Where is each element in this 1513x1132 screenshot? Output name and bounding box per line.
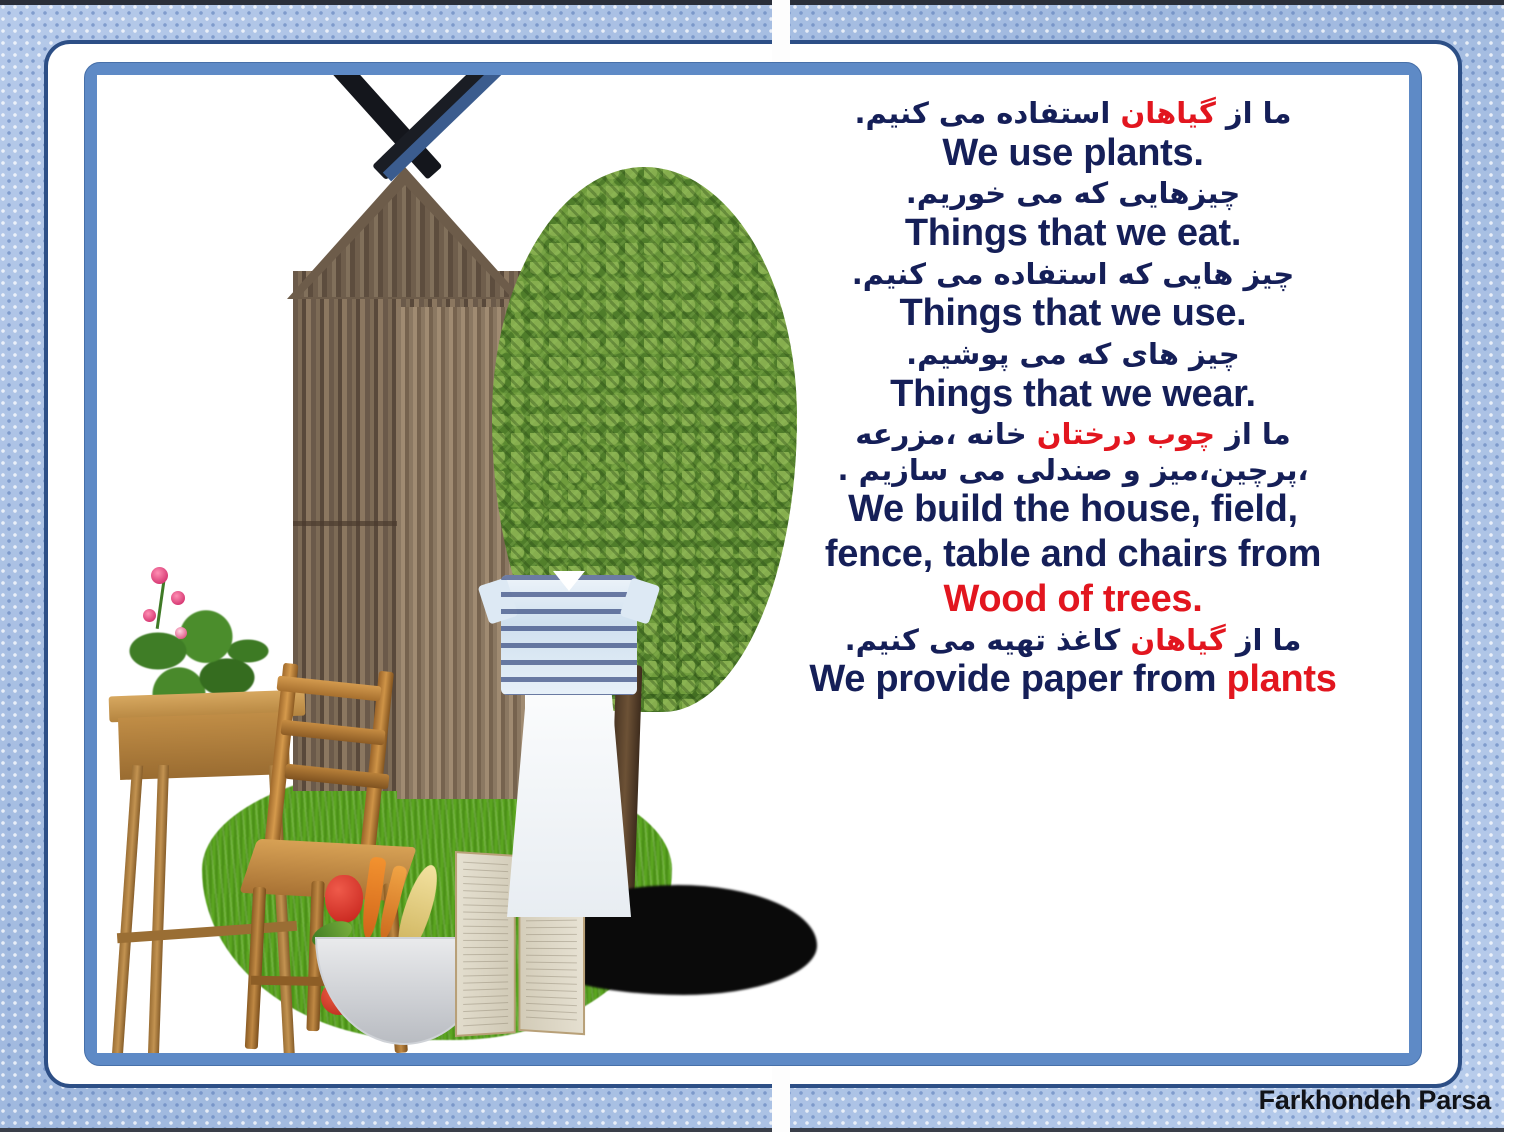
vegetable-tomato <box>325 875 363 923</box>
author-credit: Farkhondeh Parsa <box>1259 1085 1491 1116</box>
text-line-line-5-en-c: Wood of trees. <box>737 579 1409 624</box>
text-line-line-5-fa-a: ما از چوب درختان خانه ،مزرعه <box>737 418 1409 454</box>
text-segment-line-1-fa-1: گیاهان <box>1120 96 1215 130</box>
top-edge-rule <box>0 0 1505 5</box>
text-segment-line-5-fa-a-1: چوب درختان <box>1037 417 1215 451</box>
text-segment-line-1-en-0: We use plants. <box>942 132 1203 174</box>
text-segment-line-1-fa-0: ما از <box>1216 96 1292 130</box>
flower-bloom <box>171 591 185 605</box>
bilingual-text-block: ما از گیاهان استفاده می کنیم.We use plan… <box>737 97 1409 704</box>
text-segment-line-5-fa-b-0: ،پرچین،میز و صندلی می سازیم . <box>837 453 1308 487</box>
text-line-line-4-fa: چیز های که می پوشیم. <box>737 338 1409 374</box>
text-line-line-1-en: We use plants. <box>737 133 1409 178</box>
open-book-left-page <box>455 851 516 1037</box>
text-line-line-5-en-a: We build the house, field, <box>737 489 1409 534</box>
text-segment-line-4-fa-0: چیز های که می پوشیم. <box>906 337 1240 371</box>
table-apron <box>118 712 290 780</box>
text-line-line-1-fa: ما از گیاهان استفاده می کنیم. <box>737 97 1409 133</box>
book-text-lines <box>463 862 508 1027</box>
table-leg <box>148 765 169 1053</box>
text-line-line-5-fa-b: ،پرچین،میز و صندلی می سازیم . <box>737 454 1409 490</box>
text-segment-line-3-en-0: Things that we use. <box>900 292 1247 334</box>
text-line-line-2-fa: چیزهایی که می خوریم. <box>737 177 1409 213</box>
text-line-line-5-en-b: fence, table and chairs from <box>737 534 1409 579</box>
text-line-line-3-en: Things that we use. <box>737 293 1409 338</box>
plant-collage-illustration <box>97 75 797 1053</box>
text-segment-line-5-fa-a-2: خانه ،مزرعه <box>855 417 1037 451</box>
text-segment-line-5-en-b-0: fence, table and chairs from <box>825 533 1321 575</box>
text-segment-line-6-fa-2: کاغذ تهیه می کنیم. <box>845 623 1131 657</box>
text-segment-line-6-en-0: We provide paper from <box>809 658 1226 700</box>
shirt-stripes <box>501 575 637 695</box>
white-dress <box>507 687 631 917</box>
slide-root: ما از گیاهان استفاده می کنیم.We use plan… <box>0 0 1513 1132</box>
text-line-line-6-fa: ما از گیاهان کاغذ تهیه می کنیم. <box>737 624 1409 660</box>
text-segment-line-1-fa-2: استفاده می کنیم. <box>855 96 1121 130</box>
text-segment-line-6-fa-1: گیاهان <box>1130 623 1225 657</box>
text-segment-line-3-fa-0: چیز هایی که استفاده می کنیم. <box>852 257 1295 291</box>
text-segment-line-5-fa-a-0: ما از <box>1215 417 1291 451</box>
text-segment-line-5-en-a-0: We build the house, field, <box>848 488 1298 530</box>
text-segment-line-2-en-0: Things that we eat. <box>905 212 1241 254</box>
right-margin <box>1504 0 1513 1132</box>
flower-bloom <box>175 627 187 639</box>
striped-shirt <box>501 575 637 695</box>
text-segment-line-5-en-c-0: Wood of trees. <box>944 578 1203 620</box>
text-line-line-3-fa: چیز هایی که استفاده می کنیم. <box>737 258 1409 294</box>
bottom-edge-rule <box>0 1128 1513 1132</box>
text-segment-line-6-fa-0: ما از <box>1226 623 1302 657</box>
table-leg <box>110 765 143 1053</box>
text-line-line-2-en: Things that we eat. <box>737 213 1409 258</box>
text-segment-line-4-en-0: Things that we wear. <box>890 373 1256 415</box>
text-line-line-4-en: Things that we wear. <box>737 374 1409 419</box>
content-canvas: ما از گیاهان استفاده می کنیم.We use plan… <box>97 75 1409 1053</box>
flower-bloom <box>151 567 168 584</box>
flower-bloom <box>143 609 156 622</box>
text-line-line-6-en: We provide paper from plants <box>737 659 1409 704</box>
text-segment-line-6-en-1: plants <box>1227 658 1337 700</box>
text-segment-line-2-fa-0: چیزهایی که می خوریم. <box>906 176 1240 210</box>
